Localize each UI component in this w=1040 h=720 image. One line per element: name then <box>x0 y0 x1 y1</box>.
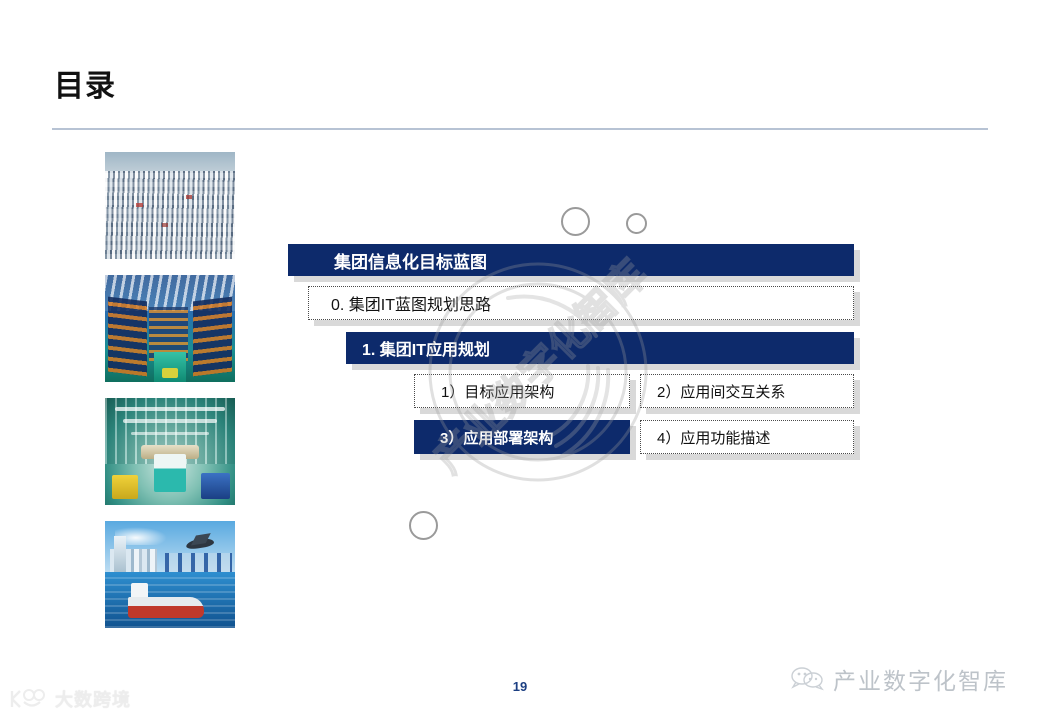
agenda-subitem-1[interactable]: 1）目标应用架构 <box>414 374 630 408</box>
agenda-header-blueprint[interactable]: 集团信息化目标蓝图 <box>288 244 854 276</box>
photo-port-vehicle-yard <box>105 152 235 259</box>
brand-footer: 产业数字化智库 <box>790 662 1008 696</box>
page-title: 目录 <box>54 72 116 102</box>
agenda-item-0[interactable]: 0. 集团IT蓝图规划思路 <box>308 286 854 320</box>
photo-vehicle-maintenance-tunnel <box>105 398 235 505</box>
bottom-left-watermark: 大数跨境 <box>8 686 131 712</box>
wechat-icon <box>790 666 824 692</box>
decor-circle-small-top-icon <box>626 213 647 234</box>
photo-city-port-air-sea <box>105 521 235 628</box>
decor-circle-large-top-icon <box>561 207 590 236</box>
agenda-subitem-4[interactable]: 4）应用功能描述 <box>640 420 854 454</box>
decor-circle-bottom-icon <box>409 511 438 540</box>
photo-warehouse-racking <box>105 275 235 382</box>
bottom-left-watermark-text: 大数跨境 <box>55 686 131 712</box>
agenda-item-1[interactable]: 1. 集团IT应用规划 <box>346 332 854 364</box>
agenda-subitem-2[interactable]: 2）应用间交互关系 <box>640 374 854 408</box>
title-divider <box>52 128 988 130</box>
dashukuajing-logo-icon <box>8 688 48 710</box>
agenda-subitem-3[interactable]: 3）应用部署架构 <box>414 420 630 454</box>
agenda-diagram: 集团信息化目标蓝图 0. 集团IT蓝图规划思路 1. 集团IT应用规划 1）目标… <box>288 244 868 474</box>
brand-name: 产业数字化智库 <box>833 662 1008 696</box>
slide-canvas: 目录 <box>0 0 1040 720</box>
